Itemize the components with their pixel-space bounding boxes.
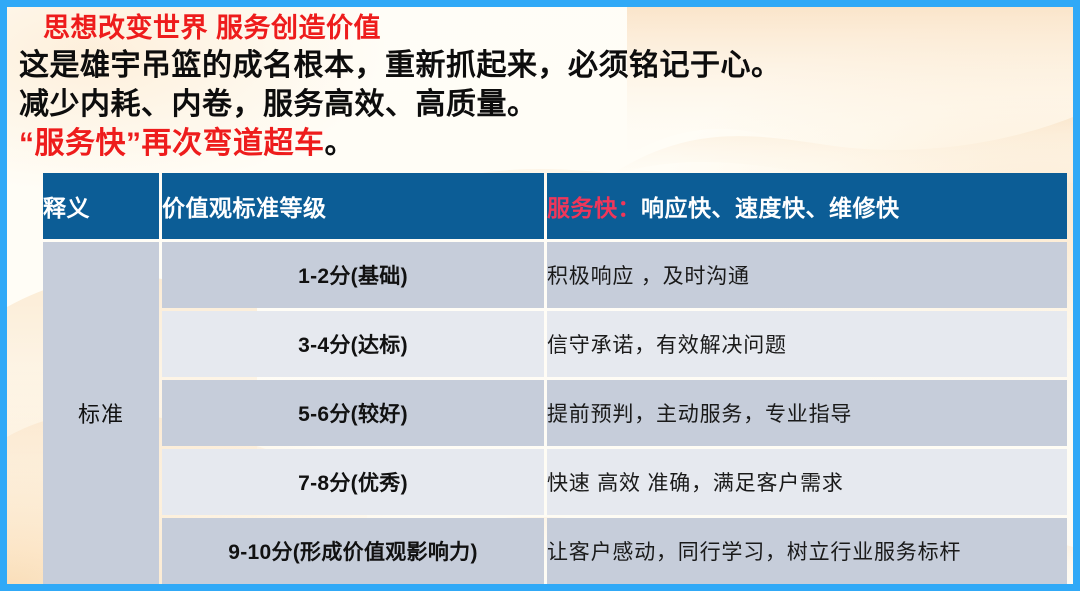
headline-line-4: “服务快”再次弯道超车。: [19, 124, 1064, 163]
table-cell-desc: 信守承诺，有效解决问题: [547, 311, 1067, 377]
table-row: 标准 1-2分(基础) 积极响应 ，及时沟通: [43, 242, 1067, 308]
table-row: 9-10分(形成价值观影响力) 让客户感动，同行学习，树立行业服务标杆: [43, 518, 1067, 584]
headline-line-1: 思想改变世界 服务创造价值: [19, 11, 1064, 46]
headline-block: 思想改变世界 服务创造价值 这是雄宇吊篮的成名根本，重新抓起来，必须铭记于心。 …: [19, 11, 1064, 163]
table-cell-desc: 让客户感动，同行学习，树立行业服务标杆: [547, 518, 1067, 584]
table-cell-grade: 7-8分(优秀): [162, 449, 544, 515]
table-rowgroup-label: 标准: [43, 242, 159, 584]
table-row: 3-4分(达标) 信守承诺，有效解决问题: [43, 311, 1067, 377]
table-header-service-red: 服务快：: [547, 195, 641, 221]
table-row: 7-8分(优秀) 快速 高效 准确，满足客户需求: [43, 449, 1067, 515]
table-cell-grade: 3-4分(达标): [162, 311, 544, 377]
table-cell-desc: 快速 高效 准确，满足客户需求: [547, 449, 1067, 515]
table-header-service: 服务快：响应快、速度快、维修快: [547, 173, 1067, 239]
table-cell-desc: 积极响应 ，及时沟通: [547, 242, 1067, 308]
value-standard-table: 释义 价值观标准等级 服务快：响应快、速度快、维修快 标准 1-2分(基础) 积…: [40, 170, 1070, 584]
table-header-definition: 释义: [43, 173, 159, 239]
table-cell-grade: 1-2分(基础): [162, 242, 544, 308]
table-header-row: 释义 价值观标准等级 服务快：响应快、速度快、维修快: [43, 173, 1067, 239]
table-header-grade: 价值观标准等级: [162, 173, 544, 239]
table-cell-desc: 提前预判，主动服务，专业指导: [547, 380, 1067, 446]
headline-line-4-tail: 。: [325, 127, 356, 160]
headline-line-3: 减少内耗、内卷，服务高效、高质量。: [19, 85, 1064, 124]
table-row: 5-6分(较好) 提前预判，主动服务，专业指导: [43, 380, 1067, 446]
slide-frame: 思想改变世界 服务创造价值 这是雄宇吊篮的成名根本，重新抓起来，必须铭记于心。 …: [0, 0, 1080, 591]
headline-line-4-red: “服务快”再次弯道超车: [19, 127, 325, 160]
table-cell-grade: 5-6分(较好): [162, 380, 544, 446]
table-header-service-white: 响应快、速度快、维修快: [641, 195, 900, 221]
slide-canvas: 思想改变世界 服务创造价值 这是雄宇吊篮的成名根本，重新抓起来，必须铭记于心。 …: [7, 7, 1073, 584]
headline-line-2: 这是雄宇吊篮的成名根本，重新抓起来，必须铭记于心。: [19, 46, 1064, 85]
table-cell-grade: 9-10分(形成价值观影响力): [162, 518, 544, 584]
